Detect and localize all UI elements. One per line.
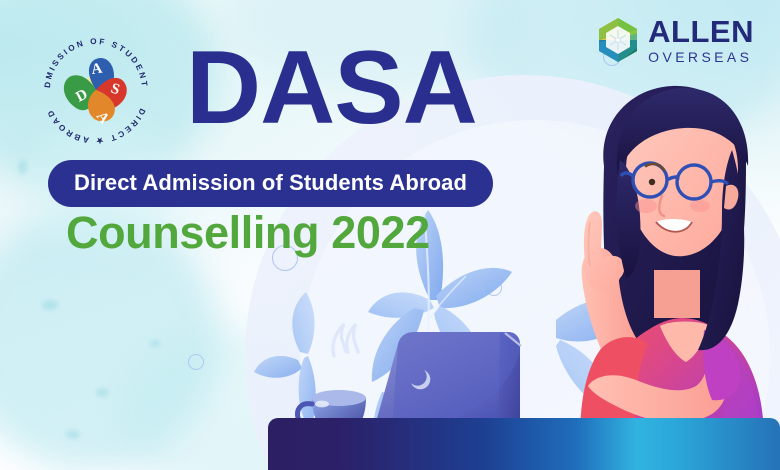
subtitle-pill: Direct Admission of Students Abroad	[48, 160, 493, 207]
allen-hexagon-icon	[597, 17, 639, 63]
allen-overseas-logo[interactable]: ALLEN OVERSEAS	[597, 16, 754, 64]
allen-subtitle: OVERSEAS	[648, 50, 754, 64]
woman-figure	[580, 86, 764, 440]
dasa-counselling-banner: ADMISSION OF STUDENTS DIRECT ★ ABROAD D …	[0, 0, 780, 470]
desk-surface	[268, 418, 780, 470]
dasa-logo: ADMISSION OF STUDENTS DIRECT ★ ABROAD D …	[34, 28, 158, 152]
allen-wordmark: ALLEN	[648, 16, 754, 47]
tagline: Counselling 2022	[66, 207, 430, 259]
page-title: DASA	[186, 36, 477, 140]
